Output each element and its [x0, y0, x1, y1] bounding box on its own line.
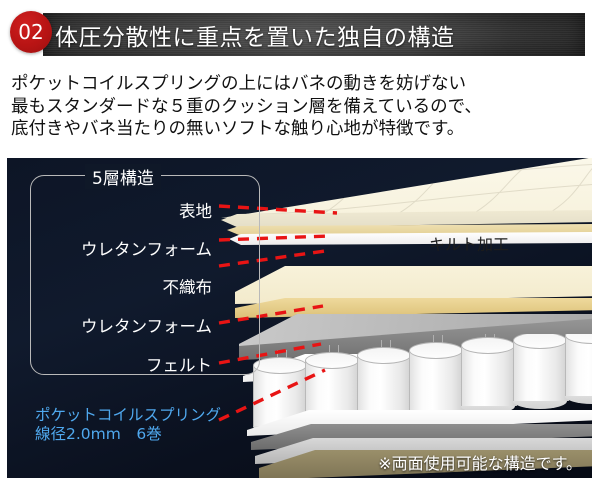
layer-label-1: ウレタンフォーム	[47, 236, 212, 260]
intro-line-1: ポケットコイルスプリングの上にはバネの動きを妨げない	[11, 72, 591, 95]
reversible-note: ※両面使用可能な構造です。	[378, 450, 582, 474]
intro-copy: ポケットコイルスプリングの上にはバネの動きを妨げない 最もスタンダードな５重のク…	[11, 72, 591, 140]
section-header: 体圧分散性に重点を置いた独自の構造 02	[0, 0, 600, 72]
spring-spec-line-1: ポケットコイルスプリング	[35, 406, 221, 425]
intro-line-3: 底付きやバネ当たりの無いソフトな触り心地が特徴です。	[11, 117, 591, 140]
page-title: 体圧分散性に重点を置いた独自の構造	[55, 14, 575, 56]
layer-label-4: フェルト	[47, 352, 212, 376]
spring-spec-line-2: 線径2.0mm 6巻	[35, 425, 221, 444]
intro-line-2: 最もスタンダードな５重のクッション層を備えているので、	[11, 95, 591, 118]
layer-label-0: 表地	[47, 198, 212, 222]
step-badge: 02	[10, 11, 52, 53]
quilt-label: キルト加工	[429, 231, 509, 255]
layer-label-2: 不織布	[47, 274, 212, 298]
bracket-title: 5層構造	[85, 164, 161, 189]
structure-diagram-panel: 5層構造 表地 ウレタンフォーム 不織布 ウレタンフォーム フェルト ポケットコ…	[7, 158, 592, 478]
layer-label-3: ウレタンフォーム	[47, 313, 212, 337]
spring-spec-note: ポケットコイルスプリング 線径2.0mm 6巻	[35, 406, 221, 444]
